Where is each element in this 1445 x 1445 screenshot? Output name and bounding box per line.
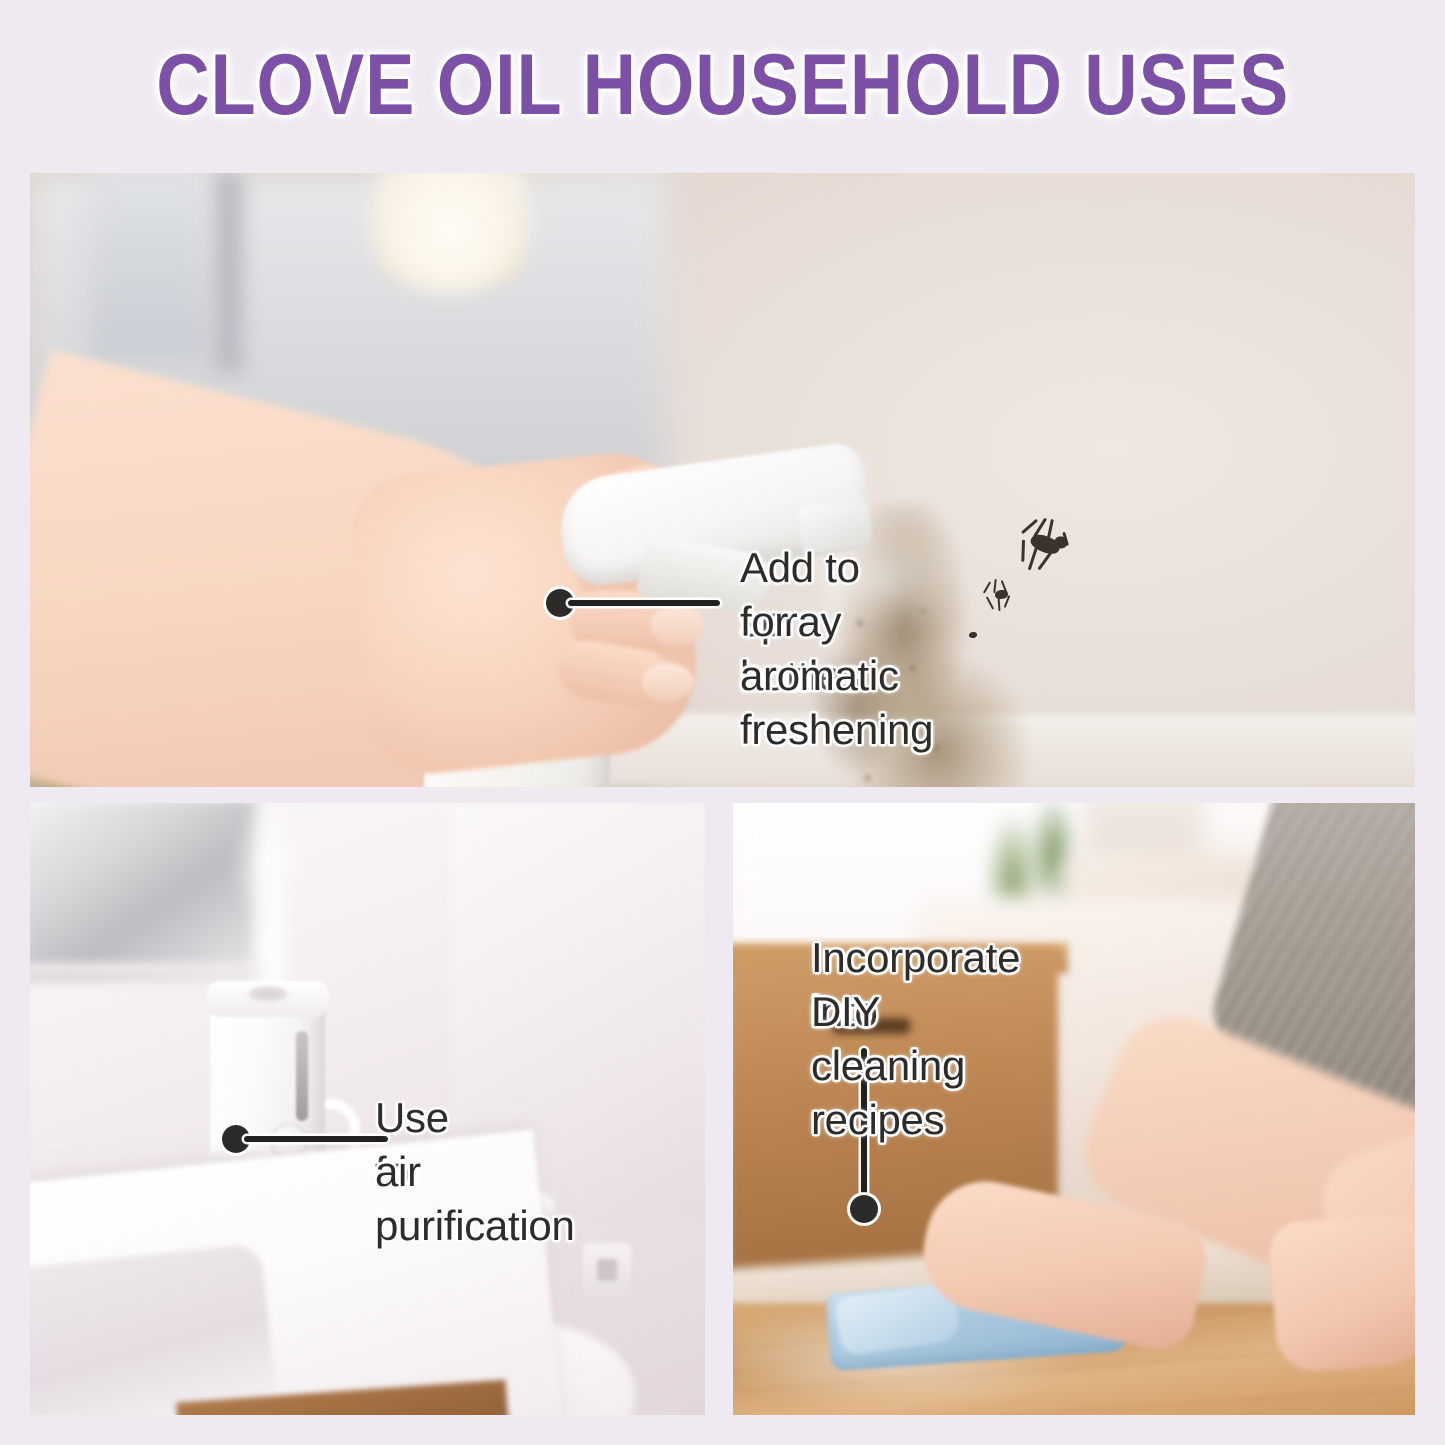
leader-line-humidifier: [244, 1136, 388, 1142]
window-frame-blur: [215, 173, 243, 373]
page-title: CLOVE OIL HOUSEHOLD USES: [156, 40, 1289, 130]
hand-supporting: [1268, 1213, 1415, 1374]
insect-tiny: [965, 628, 981, 644]
humidifier-mist: [205, 813, 335, 1008]
scene-spray-bottle: Add to spray bottles for aromatic freshe…: [30, 173, 1415, 787]
callout-text-humidifier-line2: air purification: [375, 1145, 575, 1253]
sink-basin: [30, 1243, 278, 1415]
callout-text-cleaning-line2: DIY cleaning recipes: [811, 985, 965, 1147]
infographic-page: CLOVE OIL HOUSEHOLD USES: [0, 0, 1445, 1445]
leader-dot-cleaning: [850, 1195, 878, 1223]
panel-diy-cleaning: Incorporate into DIY cleaning recipes: [733, 803, 1415, 1415]
humidifier-mist-outlet: [248, 986, 288, 1002]
fingernail-2: [642, 663, 694, 701]
wall-outlet: [583, 1243, 631, 1301]
callout-text-spray-line2: for aromatic freshening: [740, 595, 933, 757]
panel-humidifier: Use for air purification: [30, 803, 705, 1415]
leader-line-spray: [568, 600, 720, 606]
title-container: CLOVE OIL HOUSEHOLD USES: [0, 40, 1445, 130]
window-blur: [90, 173, 210, 363]
insect-small: [983, 578, 1019, 612]
fingernail-1: [650, 605, 704, 645]
scene-humidifier: Use for air purification: [30, 803, 705, 1415]
scene-diy-cleaning: Incorporate into DIY cleaning recipes: [733, 803, 1415, 1415]
humidifier-water-window: [296, 1031, 308, 1121]
panel-spray-bottle: Add to spray bottles for aromatic freshe…: [30, 173, 1415, 787]
